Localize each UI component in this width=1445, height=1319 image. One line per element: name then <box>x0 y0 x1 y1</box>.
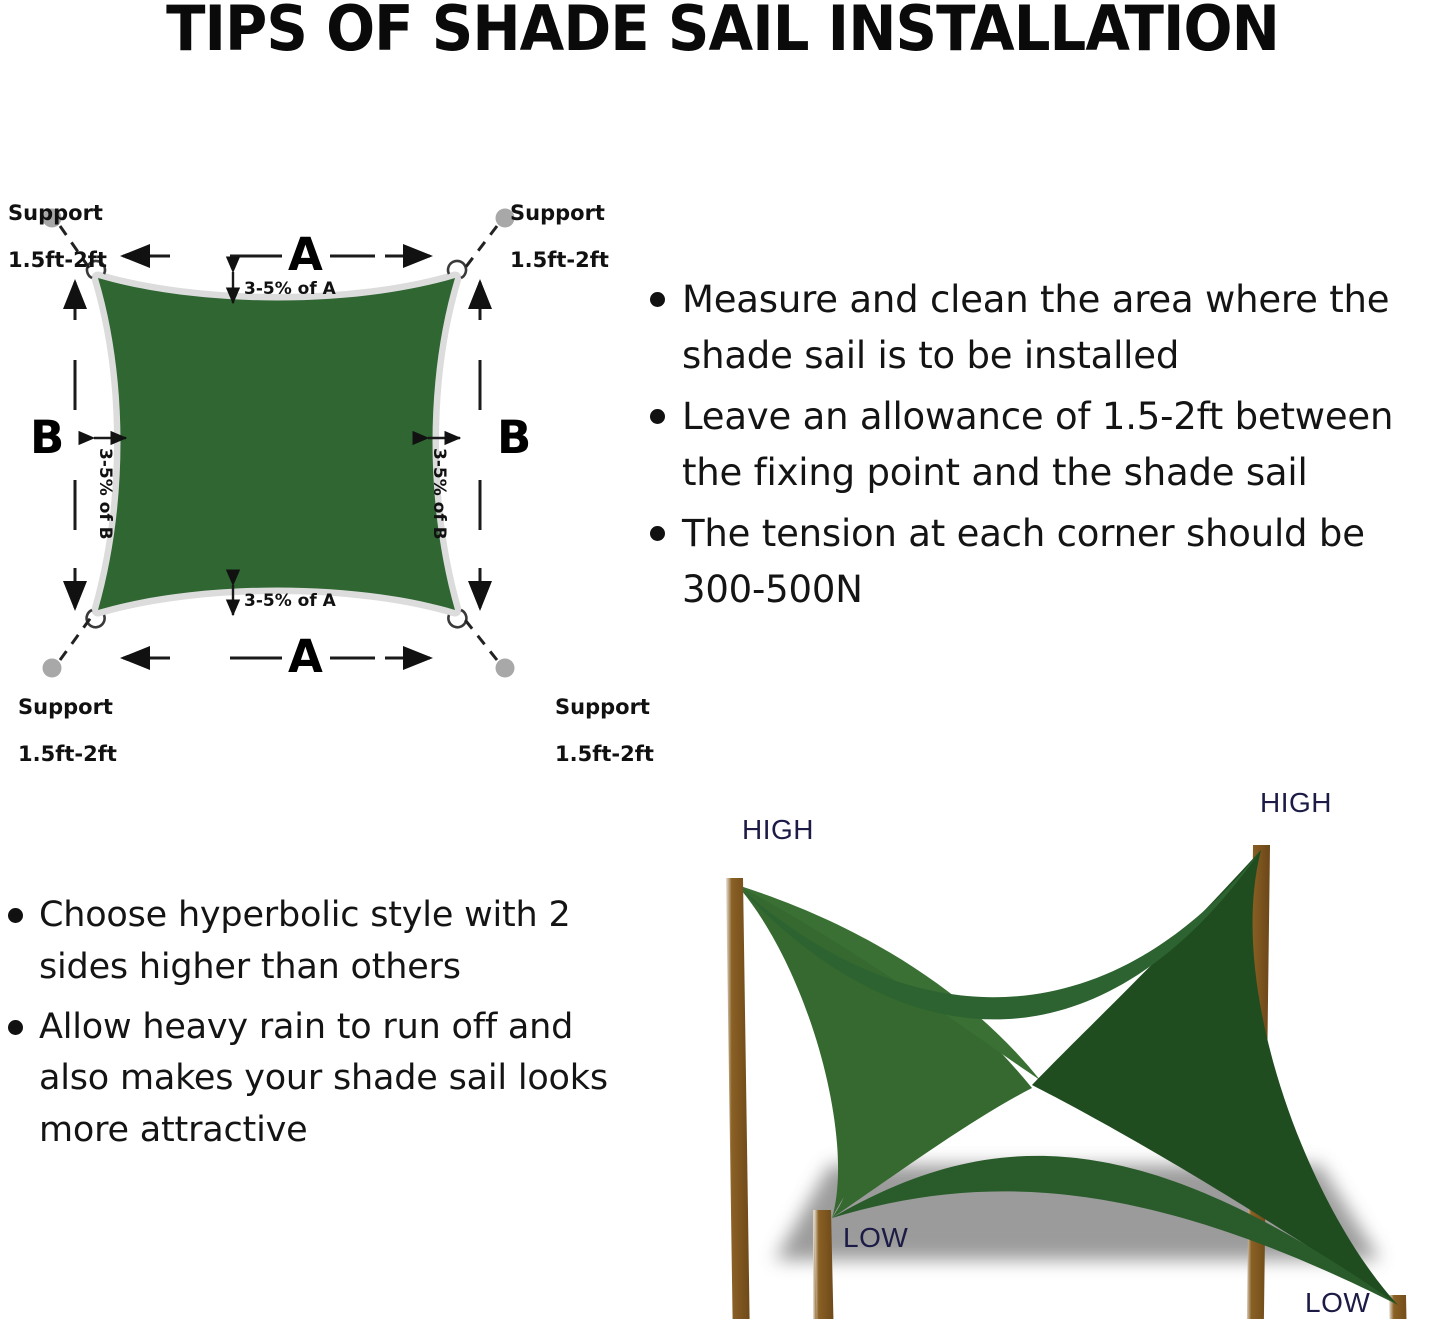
support-dot-bottom-right <box>496 659 515 678</box>
support-label-bottom-right: Support 1.5ft-2ft <box>555 672 654 766</box>
curve-label-top: 3-5% of A <box>244 281 336 298</box>
sail-fabric <box>98 278 455 610</box>
support-label-line2: 1.5ft-2ft <box>555 742 654 766</box>
tie-bottom-left <box>60 616 92 660</box>
tip-text: Measure and clean the area where the sha… <box>682 272 1445 383</box>
bullet-dot-icon <box>650 526 665 541</box>
support-label-line1: Support <box>8 201 103 225</box>
hyperbolic-sail-svg <box>680 790 1445 1319</box>
bullet-dot-icon <box>8 1020 23 1035</box>
bullet-dot-icon <box>650 409 665 424</box>
post-low-right <box>1389 1295 1411 1319</box>
label-low-right: LOW <box>1305 1287 1370 1319</box>
installation-tips-list-left: Choose hyperbolic style with 2 sides hig… <box>8 890 638 1165</box>
tip-text: The tension at each corner should be 300… <box>682 506 1445 617</box>
list-item: Allow heavy rain to run off and also mak… <box>8 1002 638 1157</box>
support-label-top-left: Support 1.5ft-2ft <box>8 178 107 272</box>
page-title: TIPS OF SHADE SAIL INSTALLATION <box>51 0 1395 61</box>
list-item: The tension at each corner should be 300… <box>650 506 1445 617</box>
support-label-line1: Support <box>510 201 605 225</box>
label-low-left: LOW <box>843 1222 908 1254</box>
curve-label-left: 3-5% of B <box>96 448 113 540</box>
support-label-line1: Support <box>18 695 113 719</box>
tie-bottom-right <box>462 616 497 660</box>
support-label-bottom-left: Support 1.5ft-2ft <box>18 672 117 766</box>
support-label-line2: 1.5ft-2ft <box>510 248 609 272</box>
list-item: Measure and clean the area where the sha… <box>650 272 1445 383</box>
support-label-line1: Support <box>555 695 650 719</box>
dimension-label-bottom-a: A <box>288 634 323 679</box>
support-label-line2: 1.5ft-2ft <box>18 742 117 766</box>
dimension-label-right-b: B <box>497 415 531 460</box>
tip-text: Choose hyperbolic style with 2 sides hig… <box>39 890 638 994</box>
tie-top-right <box>462 226 497 272</box>
bullet-dot-icon <box>650 292 665 307</box>
list-item: Leave an allowance of 1.5-2ft between th… <box>650 389 1445 500</box>
label-high-left: HIGH <box>742 814 814 846</box>
rectangular-sail-diagram: Support 1.5ft-2ft Support 1.5ft-2ft Supp… <box>0 160 660 730</box>
label-high-right: HIGH <box>1260 787 1332 819</box>
bullet-dot-icon <box>8 908 23 923</box>
curve-label-right: 3-5% of B <box>430 448 447 540</box>
hyperbolic-sail-diagram: HIGH HIGH LOW LOW <box>680 790 1445 1319</box>
dimension-label-top-a: A <box>288 232 323 277</box>
list-item: Choose hyperbolic style with 2 sides hig… <box>8 890 638 994</box>
tip-text: Leave an allowance of 1.5-2ft between th… <box>682 389 1445 500</box>
tip-text: Allow heavy rain to run off and also mak… <box>39 1002 638 1157</box>
dimension-label-left-b: B <box>30 415 64 460</box>
support-label-top-right: Support 1.5ft-2ft <box>510 178 609 272</box>
support-label-line2: 1.5ft-2ft <box>8 248 107 272</box>
installation-tips-list-right: Measure and clean the area where the sha… <box>650 272 1445 623</box>
post-high-left <box>726 878 752 1319</box>
curve-label-bottom: 3-5% of A <box>244 593 336 610</box>
